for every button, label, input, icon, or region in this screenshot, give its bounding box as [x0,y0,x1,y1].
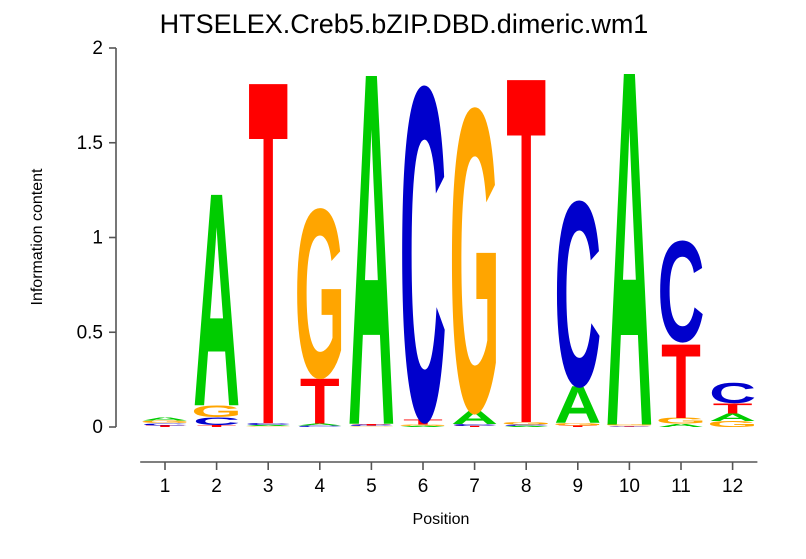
x-tick-label-1: 1 [160,476,171,497]
logo-letter-G-pos4: G [294,160,345,429]
x-tick-label-2: 2 [211,476,222,497]
logo-stack-position-3: GACT [243,0,294,528]
x-tick-label-9: 9 [573,476,584,497]
y-tick-label-1: 1 [92,228,103,249]
logo-letter-G-pos7: G [449,17,500,502]
logo-stack-position-10: TCGA [604,0,655,533]
logo-stack-position-2: TCGA [191,129,242,471]
logo-letter-C-pos11: C [657,211,704,372]
y-tick-label-0: 0 [92,417,103,438]
logo-stack-position-9: TGAC [552,146,603,441]
logo-letter-C-pos12: C [709,376,756,409]
y-tick-label-0.5: 0.5 [77,322,103,343]
x-tick-label-12: 12 [722,476,743,497]
logo-stack-position-1: TCGA [140,417,191,428]
y-axis-title: Information content [29,168,46,306]
x-tick-label-4: 4 [315,476,326,497]
logo-letter-A-pos5: A [348,0,395,532]
logo-stack-position-8: ACGT [501,0,552,529]
logo-stack-position-11: AGTC [656,211,707,441]
sequence-logo-figure: HTSELEX.Creb5.bZIP.DBD.dimeric.wm1 Infor… [0,0,806,559]
logo-stack-position-12: GATC [707,376,758,428]
logo-letter-C-pos6: C [399,0,446,521]
logo-letter-T-pos3: T [248,0,288,528]
logo-letter-T-pos8: T [506,0,546,529]
logo-letter-A-pos2: A [193,129,240,471]
y-tick-label-1.5: 1.5 [77,133,103,154]
logo-stack-position-4: CATG [294,160,345,438]
logo-stack-position-5: GCTA [346,0,397,532]
logo-letter-A-pos10: A [606,0,653,533]
logo-letter-A-pos1: A [142,417,189,422]
y-tick-label-2: 2 [92,38,103,59]
logo-stack-position-7: TCAG [449,17,500,502]
logo-stack-position-6: AGTC [398,0,449,521]
y-axis: 00.511.52 [77,38,116,438]
logo-stacks: TCGATCGAGACTCATGGCTAAGTCTCAGACGTTGACTCGA… [140,0,758,533]
x-tick-label-11: 11 [671,476,691,497]
logo-letter-C-pos9: C [554,146,601,441]
logo-canvas: HTSELEX.Creb5.bZIP.DBD.dimeric.wm1 Infor… [0,0,806,559]
